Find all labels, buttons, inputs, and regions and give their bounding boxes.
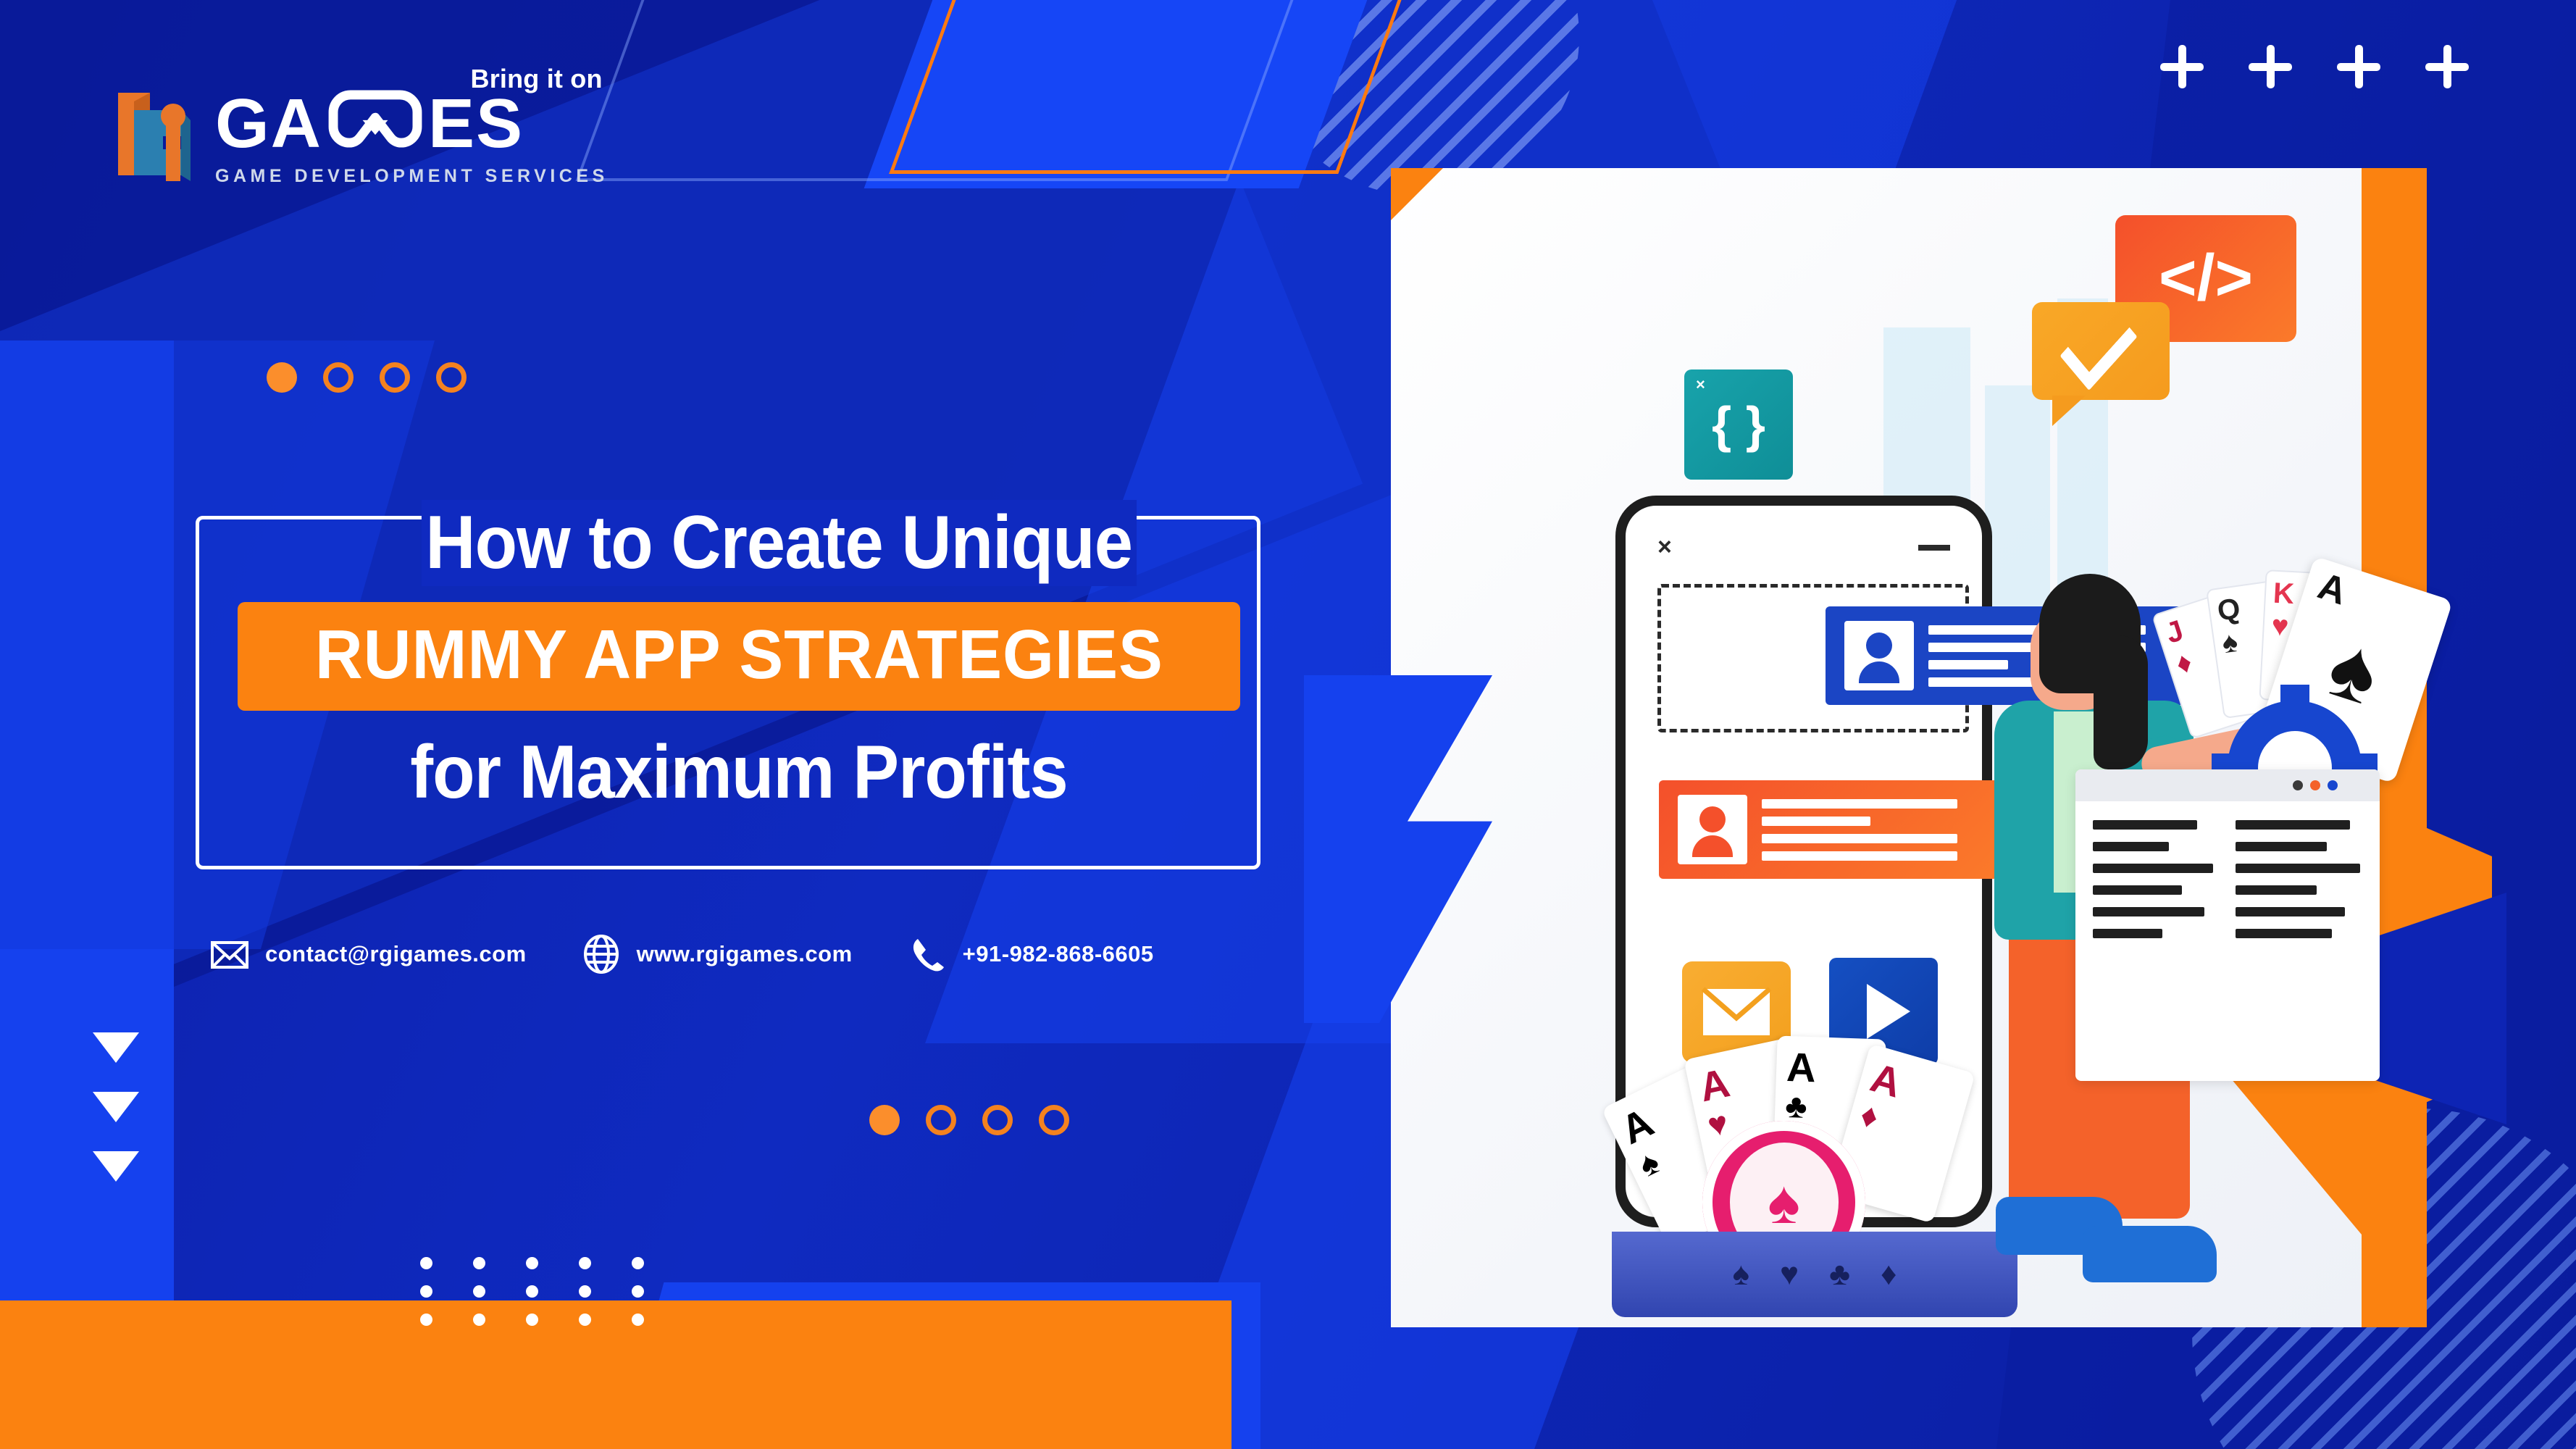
browser-window	[2075, 769, 2380, 1081]
phone-icon	[908, 935, 947, 974]
contact-website[interactable]: www.rgigames.com	[582, 935, 853, 974]
dot-grid-decoration	[420, 1257, 658, 1342]
headline-line-1: How to Create Unique	[422, 500, 1137, 586]
illustration-panel: × </> × { }	[1391, 168, 2427, 1327]
dot-indicator-active[interactable]	[267, 362, 297, 393]
browser-title-bar	[2075, 769, 2380, 801]
dot-indicator[interactable]	[1039, 1105, 1069, 1135]
logo-wordmark: Bring it on GA ES GAME DEVELOPMENT SERVI…	[215, 80, 609, 187]
headline-highlight-band: Rummy App Strategies	[238, 602, 1240, 711]
card-suit: ♠	[2220, 626, 2240, 660]
logo-name-part2: ES	[428, 91, 524, 156]
grid-dot	[579, 1285, 591, 1298]
triangle-down-icon	[93, 1151, 139, 1182]
dot-indicator[interactable]	[323, 362, 354, 393]
suit-ribbon: ♠ ♥ ♣ ♦	[1612, 1232, 2017, 1317]
contact-phone[interactable]: +91-982-868-6605	[908, 935, 1154, 974]
grid-dot	[473, 1257, 485, 1269]
contact-phone-text: +91-982-868-6605	[963, 941, 1154, 967]
play-icon	[1867, 984, 1910, 1039]
headline-line-3: for Maximum Profits	[259, 730, 1219, 816]
grid-dot	[579, 1257, 591, 1269]
contact-website-text: www.rgigames.com	[637, 941, 853, 967]
plus-icon	[2249, 45, 2292, 88]
contact-email-text: contact@rgigames.com	[265, 941, 527, 967]
grid-dot	[420, 1257, 432, 1269]
grid-dot	[632, 1285, 644, 1298]
rgi-hex-logo-icon	[112, 80, 206, 188]
plus-icon	[2425, 45, 2469, 88]
grid-dot	[579, 1314, 591, 1326]
plus-decoration-row	[2160, 45, 2469, 88]
logo-name-part1: GA	[215, 91, 322, 156]
marketing-banner: Bring it on GA ES GAME DEVELOPMENT SERVI…	[0, 0, 2576, 1449]
profile-row-card-orange	[1659, 780, 1999, 879]
grid-dot	[526, 1257, 538, 1269]
check-speech-bubble	[2032, 302, 2170, 400]
grid-dot	[632, 1314, 644, 1326]
headline-group: How to Create Unique Rummy App Strategie…	[217, 500, 1260, 816]
text-lines	[2236, 820, 2362, 938]
ribbon-suit-heart: ♥	[1780, 1256, 1799, 1293]
triangle-down-icon	[93, 1092, 139, 1122]
card-suit: ♦	[2172, 646, 2196, 680]
logo-tagline: Bring it on	[471, 64, 603, 94]
brace-card-close-icon: ×	[1696, 375, 1705, 394]
envelope-icon	[210, 935, 249, 974]
close-icon: ×	[1657, 533, 1672, 561]
contact-email[interactable]: contact@rgigames.com	[210, 935, 527, 974]
grid-dot	[473, 1285, 485, 1298]
character-hair-back	[2094, 635, 2148, 769]
browser-content	[2075, 801, 2380, 957]
logo-name: GA ES	[215, 85, 609, 162]
brace-card-label: { }	[1712, 396, 1765, 454]
dots-row-top	[267, 362, 467, 393]
ribbon-suit-diamond: ♦	[1881, 1256, 1897, 1293]
grid-dot	[420, 1314, 432, 1326]
card-suit: ♦	[1856, 1095, 1962, 1159]
brand-logo[interactable]: Bring it on GA ES GAME DEVELOPMENT SERVI…	[112, 80, 609, 188]
text-lines	[1762, 799, 1957, 861]
ribbon-suit-club: ♣	[1829, 1256, 1850, 1293]
dots-row-bottom	[869, 1105, 1069, 1135]
contact-row: contact@rgigames.com www.rgigames.com +9…	[210, 935, 1154, 974]
ribbon-suit-spade: ♠	[1733, 1256, 1749, 1293]
bottom-blue-edge	[1231, 1282, 1260, 1449]
grid-dot	[420, 1285, 432, 1298]
grid-dot	[632, 1257, 644, 1269]
character-shoe	[2083, 1226, 2217, 1282]
dot-indicator[interactable]	[380, 362, 410, 393]
logo-subtitle: GAME DEVELOPMENT SERVICES	[215, 166, 609, 187]
plus-icon	[2160, 45, 2204, 88]
dot-indicator[interactable]	[436, 362, 467, 393]
card-suit: ♠	[2317, 615, 2391, 724]
grid-dot	[526, 1285, 538, 1298]
grid-dot	[473, 1314, 485, 1326]
plus-icon	[2337, 45, 2380, 88]
dot-indicator[interactable]	[982, 1105, 1013, 1135]
globe-icon	[582, 935, 621, 974]
avatar	[1678, 795, 1747, 864]
triangle-down-icon	[93, 1032, 139, 1063]
avatar	[1844, 621, 1914, 690]
card-rank: A	[2313, 564, 2352, 614]
card-suit: ♥	[2271, 610, 2290, 643]
text-lines	[2093, 820, 2220, 938]
grid-dot	[526, 1314, 538, 1326]
headline-highlight-text: Rummy App Strategies	[315, 615, 1163, 695]
gamepad-icon	[325, 85, 425, 162]
check-icon	[2059, 302, 2137, 391]
dot-indicator[interactable]	[926, 1105, 956, 1135]
minimize-icon	[1918, 545, 1950, 551]
brace-card: × { }	[1684, 369, 1793, 480]
triangle-markers	[93, 1032, 139, 1211]
dot-indicator-active[interactable]	[869, 1105, 900, 1135]
